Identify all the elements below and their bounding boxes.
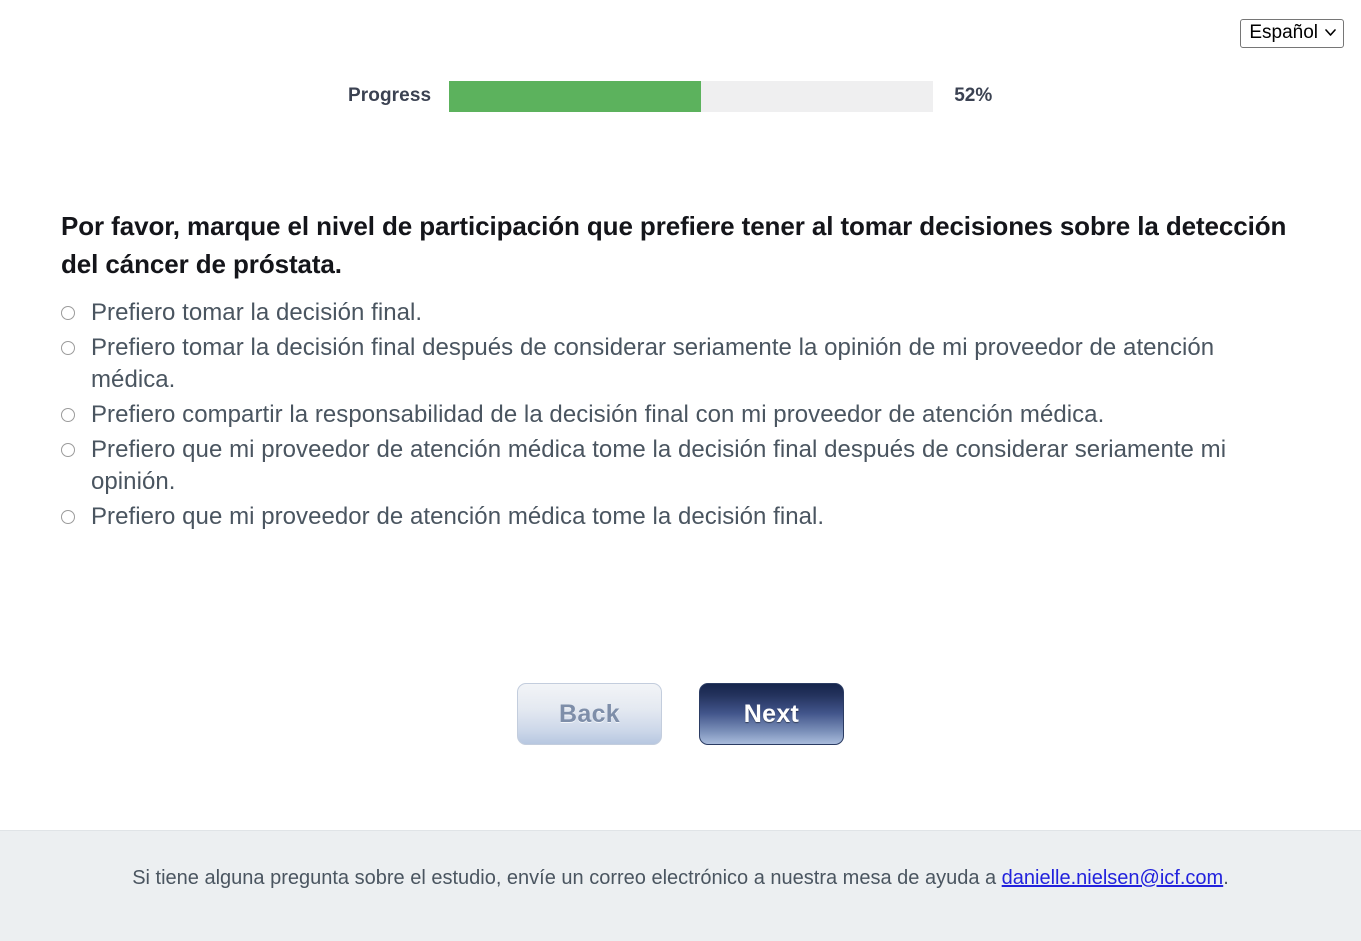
help-desk-email-link[interactable]: danielle.nielsen@icf.com xyxy=(1002,867,1224,889)
progress-bar-fill xyxy=(449,81,701,112)
progress-percent-text: 52% xyxy=(954,85,992,107)
progress-bar-track xyxy=(449,81,933,112)
language-select[interactable]: Español xyxy=(1240,19,1344,48)
radio-option-1[interactable]: Prefiero tomar la decisión final. xyxy=(61,297,1291,329)
language-selector-wrapper: Español xyxy=(1240,19,1344,48)
radio-options-group: Prefiero tomar la decisión final. Prefie… xyxy=(61,297,1291,536)
chevron-down-icon xyxy=(1325,27,1336,38)
radio-option-label: Prefiero compartir la responsabilidad de… xyxy=(91,399,1104,431)
radio-option-3[interactable]: Prefiero compartir la responsabilidad de… xyxy=(61,399,1291,431)
footer: Si tiene alguna pregunta sobre el estudi… xyxy=(0,830,1361,941)
footer-help-text: Si tiene alguna pregunta sobre el estudi… xyxy=(0,863,1361,893)
progress-row: Progress 52% xyxy=(348,80,992,112)
radio-button-icon[interactable] xyxy=(61,510,75,524)
radio-button-icon[interactable] xyxy=(61,443,75,457)
footer-help-text-before: Si tiene alguna pregunta sobre el estudi… xyxy=(132,867,1001,889)
progress-label: Progress xyxy=(348,85,431,107)
language-select-value: Español xyxy=(1249,22,1318,44)
radio-option-label: Prefiero tomar la decisión final. xyxy=(91,297,422,329)
radio-button-icon[interactable] xyxy=(61,341,75,355)
radio-option-2[interactable]: Prefiero tomar la decisión final después… xyxy=(61,332,1291,396)
survey-page: Español Progress 52% Por favor, marque e… xyxy=(0,0,1361,941)
radio-option-label: Prefiero que mi proveedor de atención mé… xyxy=(91,434,1291,498)
question-title: Por favor, marque el nivel de participac… xyxy=(61,207,1301,283)
radio-option-label: Prefiero tomar la decisión final después… xyxy=(91,332,1291,396)
radio-button-icon[interactable] xyxy=(61,408,75,422)
back-button[interactable]: Back xyxy=(517,683,662,745)
radio-option-5[interactable]: Prefiero que mi proveedor de atención mé… xyxy=(61,501,1291,533)
radio-option-label: Prefiero que mi proveedor de atención mé… xyxy=(91,501,824,533)
radio-button-icon[interactable] xyxy=(61,306,75,320)
radio-option-4[interactable]: Prefiero que mi proveedor de atención mé… xyxy=(61,434,1291,498)
footer-help-text-after: . xyxy=(1223,867,1229,889)
next-button[interactable]: Next xyxy=(699,683,844,745)
navigation-buttons: Back Next xyxy=(0,683,1361,745)
